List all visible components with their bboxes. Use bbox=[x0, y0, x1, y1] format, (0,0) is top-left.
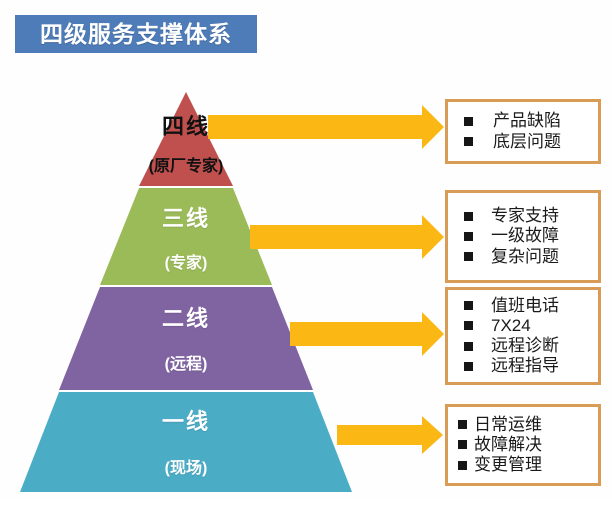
square-bullet-icon bbox=[464, 252, 473, 261]
list-item-label: 7X24 bbox=[491, 316, 531, 336]
square-bullet-icon bbox=[458, 420, 467, 429]
square-bullet-icon bbox=[464, 137, 473, 146]
list-item: 远程诊断 bbox=[464, 336, 598, 356]
list-item-label: 一级故障 bbox=[491, 226, 559, 246]
list-item-label: 日常运维 bbox=[474, 415, 542, 435]
square-bullet-icon bbox=[458, 440, 467, 449]
square-bullet-icon bbox=[464, 212, 473, 221]
pyramid-tier-4-label: 四线 bbox=[136, 116, 236, 138]
list-item: 复杂问题 bbox=[464, 247, 598, 267]
pyramid-tier-1-sublabel: (现场) bbox=[136, 461, 236, 477]
list-item-label: 产品缺陷 bbox=[493, 111, 561, 131]
callout-box-tier-1: 日常运维 故障解决 变更管理 bbox=[445, 404, 601, 486]
list-item: 值班电话 bbox=[464, 296, 598, 316]
square-bullet-icon bbox=[458, 461, 467, 470]
square-bullet-icon bbox=[464, 342, 473, 351]
arrow-icon-tier-4 bbox=[208, 105, 444, 149]
arrow-icon-tier-2 bbox=[290, 312, 444, 356]
pyramid-tier-3-label: 三线 bbox=[136, 208, 236, 230]
pyramid-tier-4-shape bbox=[139, 92, 233, 186]
square-bullet-icon bbox=[464, 232, 473, 241]
pyramid-tier-1-label: 一线 bbox=[136, 411, 236, 433]
square-bullet-icon bbox=[464, 362, 473, 371]
square-bullet-icon bbox=[464, 301, 473, 310]
square-bullet-icon bbox=[464, 321, 473, 330]
diagram-canvas: 四级服务支撑体系 四线 (原厂专家) 三线 (专家) 二线 (远程) 一线 (现… bbox=[0, 0, 612, 500]
pyramid-tier-3-shape bbox=[100, 188, 272, 285]
list-item-label: 值班电话 bbox=[491, 296, 559, 316]
pyramid-tier-3-sublabel: (专家) bbox=[136, 256, 236, 272]
pyramid-tier-1-shape bbox=[20, 392, 352, 492]
pyramid-tier-4-sublabel: (原厂专家) bbox=[121, 159, 251, 175]
page-title: 四级服务支撑体系 bbox=[40, 23, 232, 46]
list-item: 一级故障 bbox=[464, 226, 598, 246]
list-item: 产品缺陷 bbox=[464, 111, 598, 131]
page-title-banner: 四级服务支撑体系 bbox=[15, 15, 257, 53]
callout-box-tier-2: 值班电话 7X24 远程诊断 远程指导 bbox=[445, 287, 601, 385]
callout-box-tier-3: 专家支持 一级故障 复杂问题 bbox=[445, 190, 601, 283]
pyramid-tier-2-shape bbox=[59, 287, 313, 390]
list-item: 日常运维 bbox=[458, 415, 598, 435]
list-item: 底层问题 bbox=[464, 132, 598, 152]
list-item: 变更管理 bbox=[458, 455, 598, 475]
list-item: 远程指导 bbox=[464, 356, 598, 376]
list-item-label: 远程诊断 bbox=[491, 336, 559, 356]
list-item-label: 复杂问题 bbox=[491, 247, 559, 267]
list-item-label: 远程指导 bbox=[491, 356, 559, 376]
arrow-icon-tier-1 bbox=[337, 416, 443, 454]
pyramid-tier-2-label: 二线 bbox=[136, 308, 236, 330]
list-item: 故障解决 bbox=[458, 435, 598, 455]
list-item: 7X24 bbox=[464, 316, 598, 336]
arrow-icon-tier-3 bbox=[250, 215, 444, 259]
pyramid-tier-2-sublabel: (远程) bbox=[136, 357, 236, 373]
list-item-label: 底层问题 bbox=[493, 132, 561, 152]
list-item: 专家支持 bbox=[464, 206, 598, 226]
square-bullet-icon bbox=[464, 117, 473, 126]
callout-box-tier-4: 产品缺陷 底层问题 bbox=[445, 99, 601, 164]
list-item-label: 专家支持 bbox=[491, 206, 559, 226]
list-item-label: 变更管理 bbox=[474, 455, 542, 475]
list-item-label: 故障解决 bbox=[474, 435, 542, 455]
